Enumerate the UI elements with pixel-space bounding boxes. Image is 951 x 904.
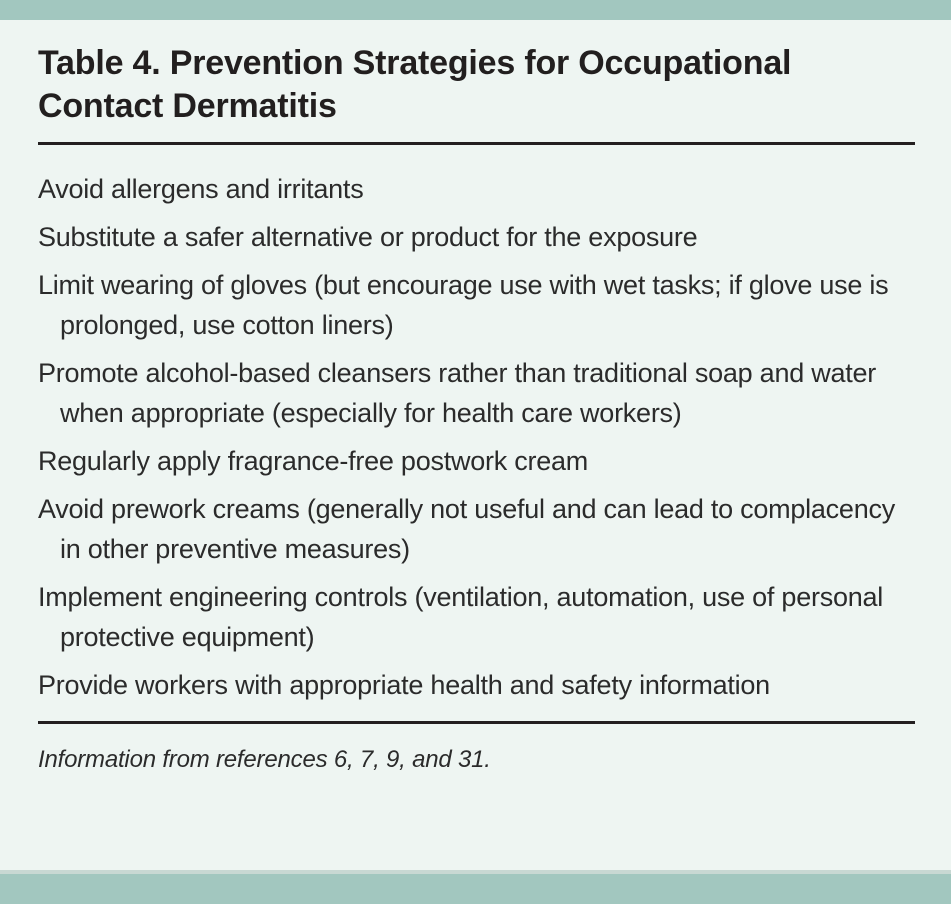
list-item: Limit wearing of gloves (but encourage u… [38, 265, 915, 345]
table-content-area: Table 4. Prevention Strategies for Occup… [0, 20, 951, 870]
list-item: Provide workers with appropriate health … [38, 665, 915, 705]
list-item: Avoid allergens and irritants [38, 169, 915, 209]
source-footnote: Information from references 6, 7, 9, and… [38, 744, 915, 776]
list-item: Avoid prework creams (generally not usef… [38, 489, 915, 569]
footer-divider-rule [38, 721, 915, 724]
top-accent-band [0, 0, 951, 20]
bottom-accent-band [0, 874, 951, 904]
list-item: Regularly apply fragrance-free postwork … [38, 441, 915, 481]
list-item: Substitute a safer alternative or produc… [38, 217, 915, 257]
strategy-list: Avoid allergens and irritants Substitute… [38, 145, 915, 705]
list-item: Implement engineering controls (ventilat… [38, 577, 915, 657]
prevention-strategies-table-card: Table 4. Prevention Strategies for Occup… [0, 0, 951, 904]
page-title: Table 4. Prevention Strategies for Occup… [38, 20, 915, 128]
list-item: Promote alcohol-based cleansers rather t… [38, 353, 915, 433]
